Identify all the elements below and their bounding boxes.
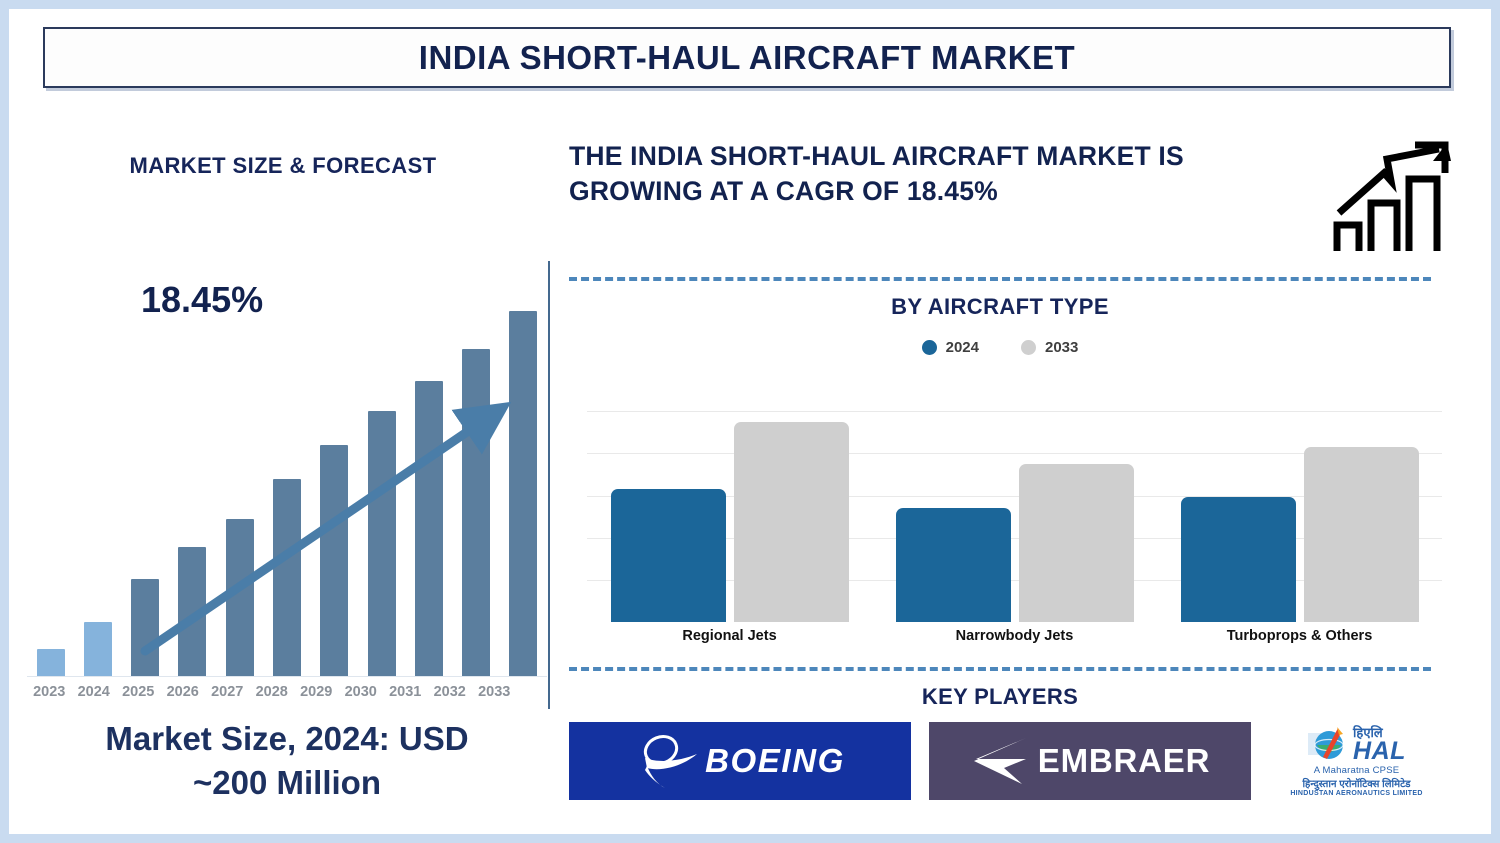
section-heading: BY AIRCRAFT TYPE xyxy=(569,294,1431,320)
year-label: 2032 xyxy=(428,684,473,700)
page-title-box: INDIA SHORT-HAUL AIRCRAFT MARKET xyxy=(43,27,1451,88)
aircraft-type-bar xyxy=(896,508,1011,622)
market-size-line1: Market Size, 2024: USD xyxy=(105,720,468,757)
key-players-heading: KEY PLAYERS xyxy=(569,684,1431,710)
market-size-bar xyxy=(37,649,65,677)
market-size-bar xyxy=(84,622,112,677)
infographic-page: INDIA SHORT-HAUL AIRCRAFT MARKET MARKET … xyxy=(0,0,1500,843)
legend-label: 2033 xyxy=(1045,339,1078,356)
legend-item: 2033 xyxy=(1021,339,1078,356)
market-size-bar xyxy=(462,349,490,677)
market-size-bar xyxy=(226,519,254,677)
hal-footer: HINDUSTAN AERONAUTICS LIMITED xyxy=(1290,790,1422,797)
category-axis-labels: Regional JetsNarrowbody JetsTurboprops &… xyxy=(587,627,1442,645)
market-size-footer: Market Size, 2024: USD ~200 Million xyxy=(19,717,555,804)
year-label: 2024 xyxy=(72,684,117,700)
hal-label: HAL xyxy=(1353,739,1406,764)
key-players-logos: BOEING EMBRAER xyxy=(569,722,1449,800)
logo-hal[interactable]: हिएलि HAL A Maharatna CPSE हिन्दुस्तान ए… xyxy=(1269,722,1444,800)
divider-top xyxy=(569,277,1431,281)
legend-dot-icon xyxy=(922,340,937,355)
year-label: 2031 xyxy=(383,684,428,700)
hal-hindi-name: हिन्दुस्तान एरोनॉटिक्स लिमिटेड xyxy=(1302,776,1410,790)
chart-baseline xyxy=(27,676,547,677)
market-size-panel: MARKET SIZE & FORECAST 18.45% 2023202420… xyxy=(19,139,547,829)
year-label: 2033 xyxy=(472,684,517,700)
aircraft-type-bar xyxy=(734,422,849,622)
boeing-swoosh-icon xyxy=(635,730,699,792)
legend-dot-icon xyxy=(1021,340,1036,355)
market-size-bar xyxy=(320,445,348,677)
aircraft-type-bar-chart xyxy=(587,369,1442,622)
aircraft-type-bar xyxy=(611,489,726,622)
aircraft-type-panel: THE INDIA SHORT-HAUL AIRCRAFT MARKET IS … xyxy=(569,139,1449,209)
market-size-bar xyxy=(415,381,443,678)
category-label: Narrowbody Jets xyxy=(872,627,1157,645)
year-label: 2023 xyxy=(27,684,72,700)
hal-subtitle: A Maharatna CPSE xyxy=(1314,765,1400,776)
market-size-bar xyxy=(131,579,159,678)
aircraft-type-bar xyxy=(1304,447,1419,622)
legend-item: 2024 xyxy=(922,339,979,356)
legend-label: 2024 xyxy=(946,339,979,356)
left-panel-heading: MARKET SIZE & FORECAST xyxy=(19,153,547,179)
growth-bar-chart-icon xyxy=(1329,139,1459,259)
logo-embraer-label: EMBRAER xyxy=(1038,742,1210,780)
logo-embraer[interactable]: EMBRAER xyxy=(929,722,1251,800)
category-label: Turboprops & Others xyxy=(1157,627,1442,645)
page-title: INDIA SHORT-HAUL AIRCRAFT MARKET xyxy=(419,39,1075,77)
year-axis-labels: 2023202420252026202720282029203020312032… xyxy=(27,684,547,700)
embraer-arrow-icon xyxy=(970,732,1030,790)
aircraft-type-bar xyxy=(1019,464,1134,622)
divider-bottom xyxy=(569,667,1431,671)
market-size-bar xyxy=(368,411,396,677)
market-size-bar xyxy=(178,547,206,677)
market-size-line2: ~200 Million xyxy=(193,764,381,801)
cagr-headline: THE INDIA SHORT-HAUL AIRCRAFT MARKET IS … xyxy=(569,139,1219,209)
aircraft-type-bar xyxy=(1181,497,1296,622)
year-label: 2029 xyxy=(294,684,339,700)
year-label: 2030 xyxy=(339,684,384,700)
market-size-bar xyxy=(273,479,301,677)
hal-globe-icon xyxy=(1307,725,1349,765)
year-label: 2026 xyxy=(161,684,206,700)
year-label: 2027 xyxy=(205,684,250,700)
logo-boeing-label: BOEING xyxy=(705,742,845,780)
gridline xyxy=(587,411,1442,412)
year-label: 2025 xyxy=(116,684,161,700)
market-size-bar-chart xyxy=(27,279,547,677)
chart-legend: 20242033 xyxy=(569,339,1431,356)
logo-boeing[interactable]: BOEING xyxy=(569,722,911,800)
year-label: 2028 xyxy=(250,684,295,700)
category-label: Regional Jets xyxy=(587,627,872,645)
market-size-bar xyxy=(509,311,537,677)
panel-divider xyxy=(548,261,550,709)
